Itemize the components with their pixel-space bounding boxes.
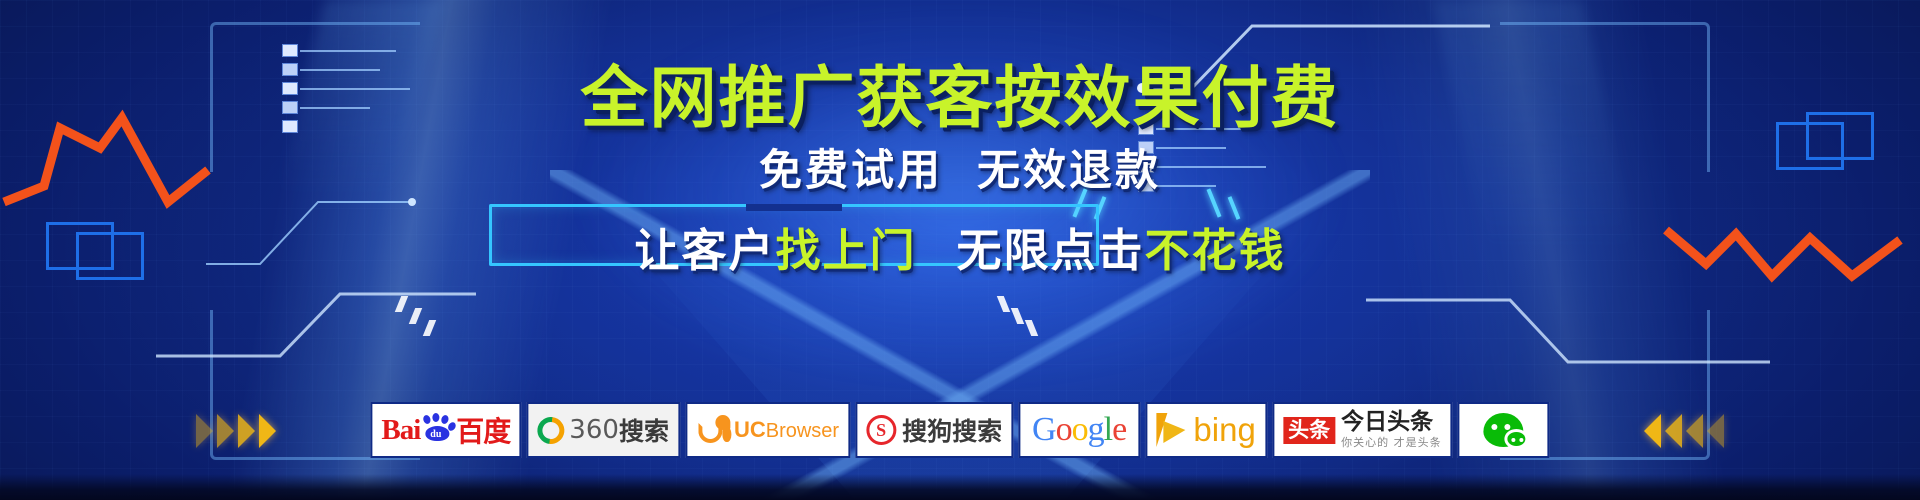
headline: 全网推广获客按效果付费 — [0, 44, 1920, 141]
logo-google[interactable]: Google — [1018, 402, 1140, 458]
subline: 免费试用无效退款 — [0, 136, 1920, 198]
line3-prefix: 让客户 — [634, 224, 775, 277]
sogou-s-icon: S — [866, 415, 896, 445]
toutiao-badge: 头条 — [1283, 417, 1335, 444]
360-ring-icon — [532, 411, 570, 449]
360-chinese-label: 搜索 — [619, 412, 669, 448]
toutiao-chinese-label: 今日头条 — [1341, 410, 1433, 434]
chevron-right-icon — [238, 414, 255, 448]
baidu-paw-text: du — [430, 429, 441, 440]
wechat-icon — [1484, 413, 1524, 447]
chevron-left-icon — [1686, 414, 1703, 448]
logo-uc-browser[interactable]: UCBrowser — [685, 402, 850, 458]
line3-highlight-1: 找上门 — [775, 224, 916, 277]
baidu-paw-icon: du — [421, 415, 455, 445]
logo-sogou-search[interactable]: S 搜狗搜索 — [855, 402, 1013, 458]
sogou-chinese-label: 搜狗搜索 — [902, 412, 1002, 448]
line3: 让客户找上门无限点击不花钱 — [0, 214, 1920, 279]
chevron-right-icon — [196, 414, 213, 448]
logo-wechat[interactable] — [1458, 402, 1550, 458]
chevron-left-icon — [1665, 414, 1682, 448]
chevron-left-icon — [1644, 414, 1661, 448]
uc-squirrel-icon — [696, 415, 730, 445]
uc-latin-label: Browser — [766, 420, 839, 442]
google-wordmark: Google — [1032, 411, 1126, 449]
circuit-line-bottom-right — [1360, 288, 1780, 378]
toutiao-tagline: 你关心的 才是头条 — [1341, 434, 1442, 450]
subline-right: 无效退款 — [977, 146, 1161, 196]
promo-banner: 全网推广获客按效果付费 免费试用无效退款 让客户找上门无限点击不花钱 Bai d… — [0, 0, 1920, 500]
logo-toutiao[interactable]: 头条 今日头条 你关心的 才是头条 — [1272, 402, 1453, 458]
logo-360-search[interactable]: 360 搜索 — [526, 402, 680, 458]
logo-baidu[interactable]: Bai du 百度 — [370, 402, 521, 458]
uc-bold-label: UC — [734, 417, 766, 442]
chevron-group-right — [1644, 414, 1724, 448]
logo-bing[interactable]: bing — [1145, 402, 1267, 458]
subline-left: 免费试用 — [759, 146, 943, 196]
line3-highlight-2: 不花钱 — [1145, 224, 1286, 277]
bottom-shade — [0, 474, 1920, 500]
chevron-group-left — [196, 414, 276, 448]
bing-logo-icon — [1156, 413, 1186, 447]
bing-latin-label: bing — [1193, 411, 1255, 449]
chevron-right-icon — [217, 414, 234, 448]
chevron-left-icon — [1707, 414, 1724, 448]
baidu-latin-label: Bai — [381, 414, 420, 447]
line3-middle: 无限点击 — [957, 224, 1145, 277]
chevron-right-icon — [259, 414, 276, 448]
baidu-chinese-label: 百度 — [456, 410, 510, 450]
partner-logo-row: Bai du 百度 360 搜索 UCBrowser S 搜狗搜索 Google — [370, 402, 1549, 458]
360-latin-label: 360 — [569, 415, 619, 445]
